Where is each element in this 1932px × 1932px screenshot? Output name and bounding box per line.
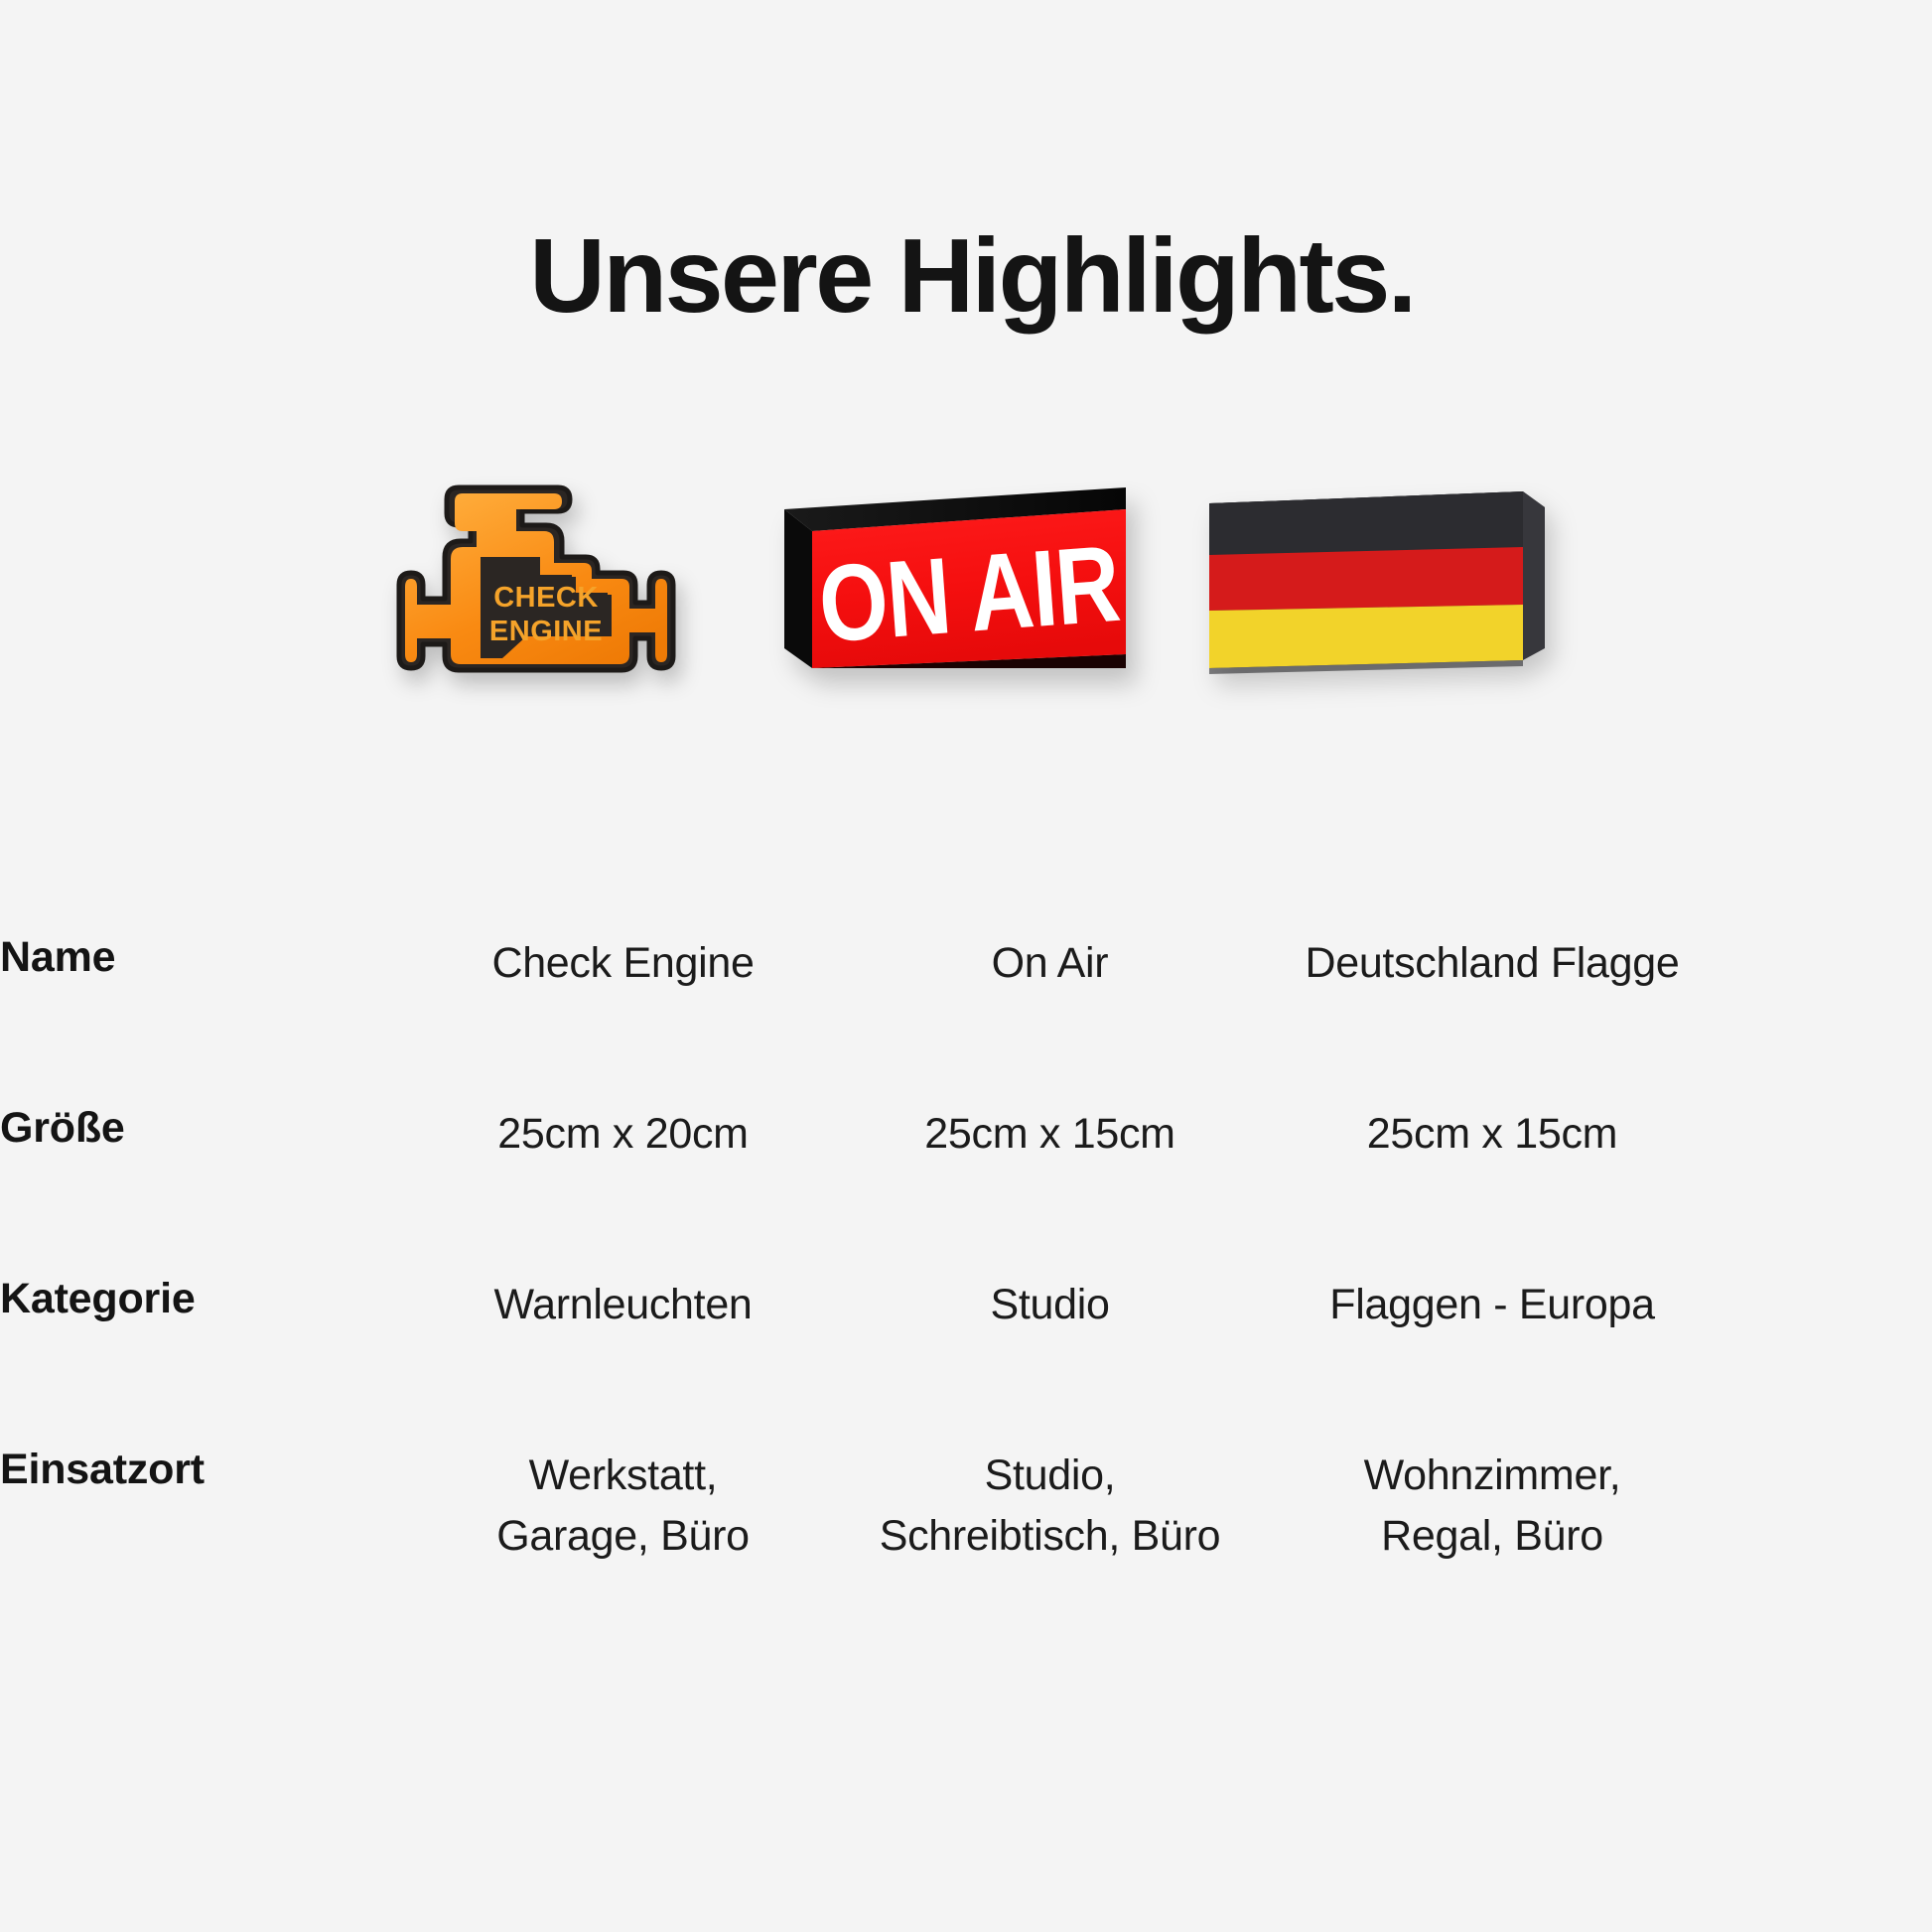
cell-pad-groesse	[1714, 1104, 1932, 1275]
cell-pad-name	[1714, 933, 1932, 1104]
page-title: Unsere Highlights.	[0, 219, 1932, 333]
table-row-groesse: Größe 25cm x 20cm 25cm x 15cm 25cm x 15c…	[0, 1104, 1932, 1275]
label-column-spacer	[0, 452, 328, 750]
einsatzort-check-engine-line2: Garage, Büro	[417, 1506, 829, 1567]
cell-name-on-air: On Air	[829, 933, 1271, 1104]
check-engine-icon: CHECK ENGINE	[342, 462, 691, 710]
einsatzort-deutschland-flagge-line1: Wohnzimmer,	[1271, 1446, 1714, 1506]
cell-pad-kategorie	[1714, 1275, 1932, 1446]
table-row-name: Name Check Engine On Air Deutschland Fla…	[0, 933, 1932, 1104]
on-air-lightbox-image[interactable]: ON AIR	[766, 474, 1134, 687]
table-row-kategorie: Kategorie Warnleuchten Studio Flaggen - …	[0, 1275, 1932, 1446]
cell-kategorie-on-air: Studio	[829, 1275, 1271, 1446]
product-image-row: CHECK ENGINE	[0, 452, 1932, 750]
check-engine-text-line2: ENGINE	[489, 616, 603, 647]
cell-pad-einsatzort	[1714, 1446, 1932, 1664]
einsatzort-on-air-line2: Schreibtisch, Büro	[829, 1506, 1271, 1567]
table-row-einsatzort: Einsatzort Werkstatt, Garage, Büro Studi…	[0, 1446, 1932, 1664]
product-image-cell-check-engine[interactable]: CHECK ENGINE	[328, 452, 745, 750]
row-label-name: Name	[0, 933, 417, 1104]
check-engine-text-line1: CHECK	[493, 582, 599, 614]
cell-kategorie-deutschland-flagge: Flaggen - Europa	[1271, 1275, 1714, 1446]
cell-name-deutschland-flagge: Deutschland Flagge	[1271, 933, 1714, 1104]
row-label-groesse: Größe	[0, 1104, 417, 1275]
einsatzort-deutschland-flagge-line2: Regal, Büro	[1271, 1506, 1714, 1567]
germany-flag-lightbox-image[interactable]	[1195, 474, 1553, 687]
on-air-box-icon: ON AIR	[766, 474, 1134, 687]
highlights-page: Unsere Highlights.	[0, 0, 1932, 1932]
check-engine-lightbox-image[interactable]: CHECK ENGINE	[342, 462, 691, 710]
row-label-kategorie: Kategorie	[0, 1275, 417, 1446]
on-air-text: ON AIR	[815, 523, 1123, 665]
germany-flag-icon	[1195, 474, 1553, 687]
cell-einsatzort-check-engine: Werkstatt, Garage, Büro	[417, 1446, 829, 1664]
product-spec-table: Name Check Engine On Air Deutschland Fla…	[0, 933, 1932, 1664]
cell-groesse-check-engine: 25cm x 20cm	[417, 1104, 829, 1275]
einsatzort-on-air-line1: Studio,	[829, 1446, 1271, 1506]
row-label-einsatzort: Einsatzort	[0, 1446, 417, 1664]
cell-groesse-on-air: 25cm x 15cm	[829, 1104, 1271, 1275]
cell-kategorie-check-engine: Warnleuchten	[417, 1275, 829, 1446]
cell-groesse-deutschland-flagge: 25cm x 15cm	[1271, 1104, 1714, 1275]
cell-einsatzort-on-air: Studio, Schreibtisch, Büro	[829, 1446, 1271, 1664]
product-image-cell-deutschland-flagge[interactable]	[1172, 452, 1598, 750]
einsatzort-check-engine-line1: Werkstatt,	[417, 1446, 829, 1506]
cell-name-check-engine: Check Engine	[417, 933, 829, 1104]
right-spacer	[1598, 452, 1926, 750]
cell-einsatzort-deutschland-flagge: Wohnzimmer, Regal, Büro	[1271, 1446, 1714, 1664]
product-image-cell-on-air[interactable]: ON AIR	[745, 452, 1172, 750]
